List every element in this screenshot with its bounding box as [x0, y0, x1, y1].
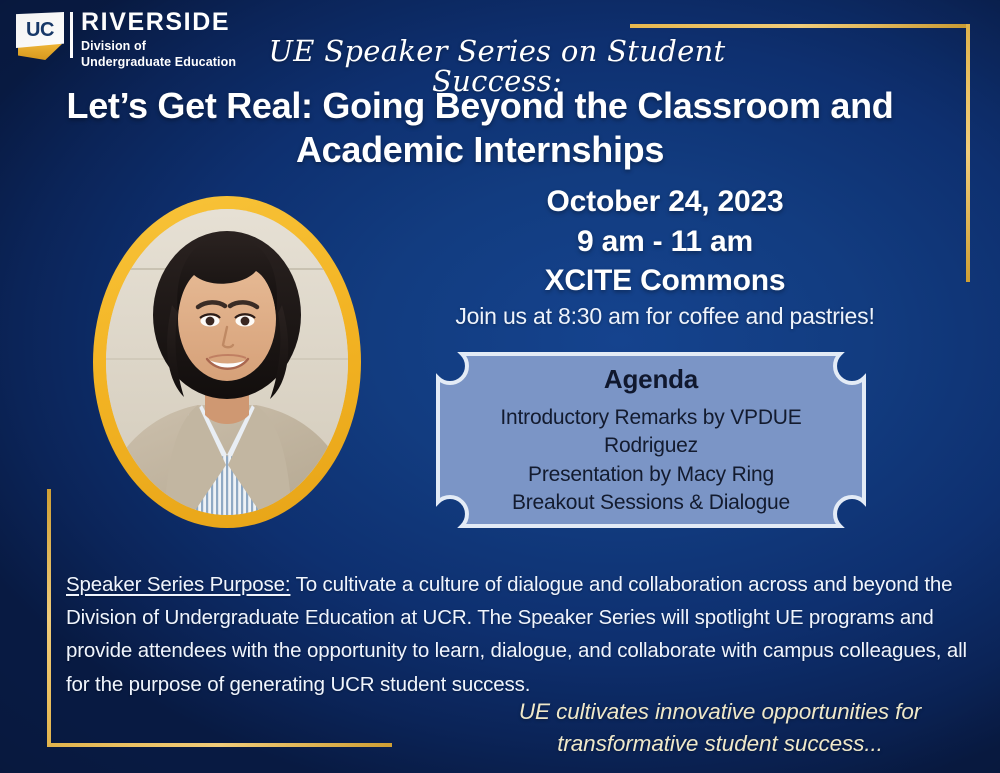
- purpose-label: Speaker Series Purpose:: [66, 573, 290, 596]
- logo-division-line2: Undergraduate Education: [81, 55, 236, 71]
- speaker-portrait: [93, 196, 361, 528]
- event-note: Join us at 8:30 am for coffee and pastri…: [400, 303, 930, 331]
- agenda-item-3: Breakout Sessions & Dialogue: [512, 489, 790, 517]
- headline-line-1: Let’s Get Real: Going Beyond the Classro…: [60, 84, 900, 128]
- gold-bracket-top-vertical: [966, 24, 970, 282]
- uc-mark-label: UC: [16, 12, 64, 48]
- headline-line-2: Academic Internships: [60, 128, 900, 172]
- event-details: October 24, 2023 9 am - 11 am XCITE Comm…: [430, 182, 900, 301]
- logo-wordmark-group: RIVERSIDE Division of Undergraduate Educ…: [81, 8, 236, 70]
- agenda-title: Agenda: [604, 365, 698, 394]
- agenda-item-1: Introductory Remarks by VPDUE Rodriguez: [462, 404, 840, 461]
- logo-division-line1: Division of: [81, 39, 236, 55]
- event-flyer: UC RIVERSIDE Division of Undergraduate E…: [0, 0, 1000, 773]
- page-title: Let’s Get Real: Going Beyond the Classro…: [60, 84, 900, 172]
- purpose-paragraph: Speaker Series Purpose: To cultivate a c…: [66, 568, 976, 701]
- event-date: October 24, 2023: [430, 182, 900, 222]
- gold-bracket-bottom-horizontal: [47, 743, 392, 747]
- agenda-panel: Agenda Introductory Remarks by VPDUE Rod…: [436, 352, 866, 528]
- tagline-line-1: UE cultivates innovative opportunities f…: [470, 696, 970, 728]
- event-time: 9 am - 11 am: [430, 222, 900, 262]
- logo-divider: [70, 12, 73, 58]
- tagline: UE cultivates innovative opportunities f…: [470, 696, 970, 760]
- portrait-photo: [106, 209, 348, 515]
- ucr-logo-lockup: UC RIVERSIDE Division of Undergraduate E…: [14, 8, 236, 70]
- agenda-content: Agenda Introductory Remarks by VPDUE Rod…: [436, 352, 866, 528]
- tagline-line-2: transformative student success...: [470, 728, 970, 760]
- logo-riverside-text: RIVERSIDE: [81, 10, 236, 35]
- event-location: XCITE Commons: [430, 261, 900, 301]
- gold-bracket-bottom-vertical: [47, 489, 51, 747]
- uc-shield-icon: UC: [14, 8, 66, 64]
- gold-bracket-top-horizontal: [630, 24, 970, 28]
- agenda-item-2: Presentation by Macy Ring: [528, 461, 774, 489]
